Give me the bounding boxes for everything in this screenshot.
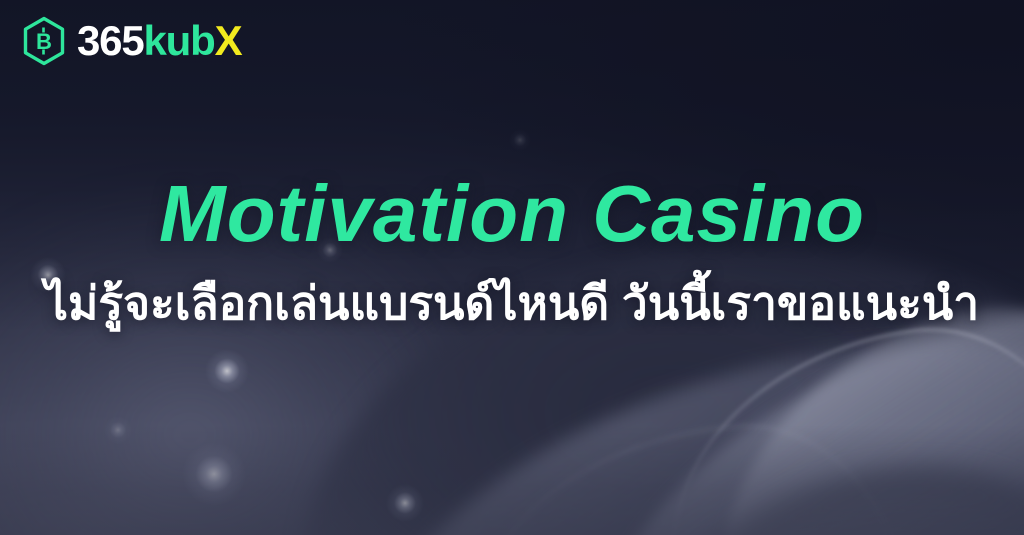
brand-logo[interactable]: B 365kubX bbox=[22, 14, 241, 68]
brand-wordmark: 365kubX bbox=[77, 20, 241, 62]
hero-headline: Motivation Casino bbox=[0, 174, 1024, 254]
brand-word-365: 365 bbox=[77, 17, 143, 64]
brand-word-x: X bbox=[215, 17, 242, 64]
brand-word-kub: kub bbox=[143, 17, 214, 64]
promo-banner: B 365kubX Motivation Casino ไม่รู้จะเลือ… bbox=[0, 0, 1024, 535]
background-bottom-fade bbox=[0, 425, 1024, 535]
hero-subtitle: ไม่รู้จะเลือกเล่นแบรนด์ไหนดี วันนี้เราขอ… bbox=[0, 276, 1024, 330]
bitcoin-hexagon-icon: B bbox=[22, 16, 66, 66]
